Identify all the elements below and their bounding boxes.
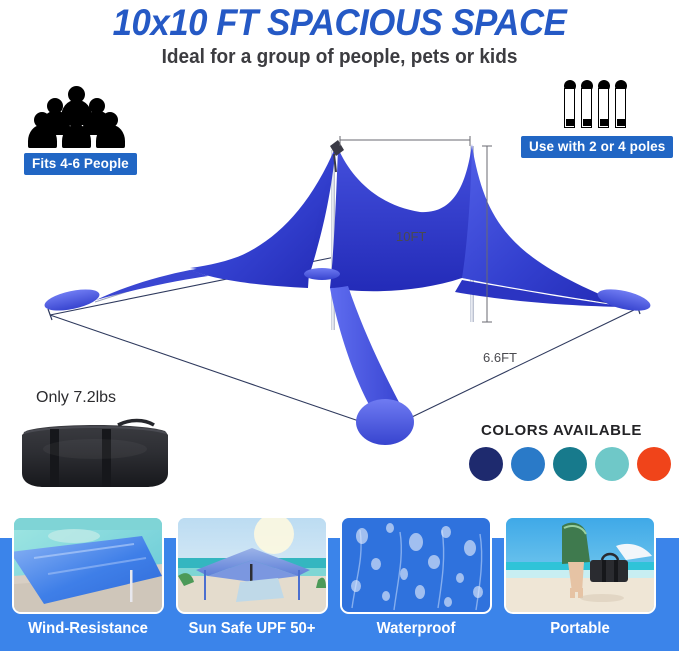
feature-image-portable	[504, 516, 656, 614]
dimension-label-height: 6.6FT	[483, 350, 517, 365]
feature-label-waterproof: Waterproof	[343, 620, 489, 638]
duffel-bag-icon	[18, 413, 173, 491]
dimension-label-width: 10FT	[396, 229, 426, 244]
feature-image-waterproof	[340, 516, 492, 614]
feature-label-wind-resistance: Wind-Resistance	[15, 620, 161, 638]
color-swatch-teal[interactable]	[553, 447, 587, 481]
product-infographic: 10x10 FT SPACIOUS SPACE Ideal for a grou…	[0, 0, 679, 651]
feature-image-sun-safe	[176, 516, 328, 614]
feature-waterproof: Waterproof	[340, 516, 492, 614]
carry-bag-weight-label: Only 7.2lbs	[36, 389, 116, 407]
color-swatch-list	[469, 447, 669, 483]
feature-image-wind-resistance	[12, 516, 164, 614]
feature-wind-resistance: Wind-Resistance	[12, 516, 164, 614]
feature-sun-safe: Sun Safe UPF 50+	[176, 516, 328, 614]
page-title: 10x10 FT SPACIOUS SPACE	[20, 2, 658, 44]
colors-available-title: COLORS AVAILABLE	[481, 422, 642, 439]
feature-portable: Portable	[504, 516, 656, 614]
color-swatch-aqua[interactable]	[595, 447, 629, 481]
page-subtitle: Ideal for a group of people, pets or kid…	[17, 46, 662, 69]
feature-label-sun-safe: Sun Safe UPF 50+	[179, 620, 325, 638]
canopy-fabric	[96, 144, 628, 410]
color-swatch-orange-red[interactable]	[637, 447, 671, 481]
color-swatch-blue[interactable]	[511, 447, 545, 481]
feature-label-portable: Portable	[507, 620, 653, 638]
color-swatch-navy[interactable]	[469, 447, 503, 481]
